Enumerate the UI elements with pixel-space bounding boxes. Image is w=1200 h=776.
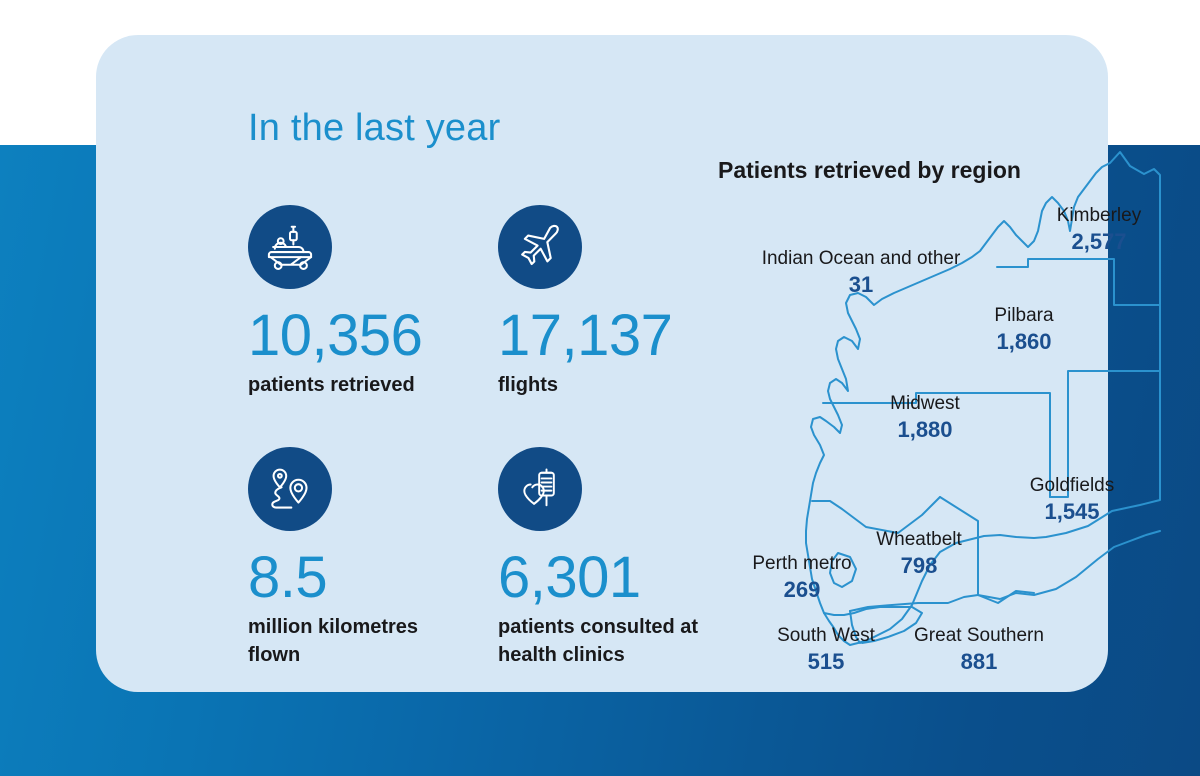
region-value: 269	[738, 576, 866, 604]
region-value: 1,545	[1008, 498, 1136, 526]
stat-value: 6,301	[498, 547, 728, 608]
region-label-great-southern: Great Southern 881	[896, 625, 1062, 675]
region-value: 31	[752, 271, 970, 299]
stat-label: million kilometres flown	[248, 614, 463, 669]
infographic-root: In the last year	[0, 0, 1200, 776]
stat-label: patients retrieved	[248, 372, 463, 400]
region-name: Kimberley	[1034, 205, 1164, 228]
region-name: Pilbara	[966, 305, 1082, 328]
region-label-perth-metro: Perth metro 269	[738, 553, 866, 603]
region-label-midwest: Midwest 1,880	[866, 393, 984, 443]
region-value: 1,860	[966, 328, 1082, 356]
region-value: 2,577	[1034, 228, 1164, 256]
stat-kilometres-flown: 8.5 million kilometres flown	[248, 447, 478, 670]
stat-flights: 17,137 flights	[498, 205, 728, 400]
region-name: Indian Ocean and other	[752, 248, 970, 271]
region-name: South West	[756, 625, 896, 648]
region-name: Wheatbelt	[860, 529, 978, 552]
region-name: Midwest	[866, 393, 984, 416]
region-label-kimberley: Kimberley 2,577	[1034, 205, 1164, 255]
patient-stretcher-icon	[248, 205, 332, 289]
stat-value: 8.5	[248, 547, 478, 608]
region-name: Perth metro	[738, 553, 866, 576]
stat-patients-retrieved: 10,356 patients retrieved	[248, 205, 478, 400]
region-name: Great Southern	[896, 625, 1062, 648]
stat-value: 17,137	[498, 305, 728, 366]
region-value: 798	[860, 552, 978, 580]
airplane-icon	[498, 205, 582, 289]
region-value: 881	[896, 648, 1062, 676]
page-title: In the last year	[248, 107, 500, 150]
route-map-pins-icon	[248, 447, 332, 531]
region-value: 1,880	[866, 416, 984, 444]
region-label-pilbara: Pilbara 1,860	[966, 305, 1082, 355]
region-value: 515	[756, 648, 896, 676]
region-name: Goldfields	[1008, 475, 1136, 498]
stat-label: patients consulted at health clinics	[498, 614, 713, 669]
stat-value: 10,356	[248, 305, 478, 366]
region-label-south-west: South West 515	[756, 625, 896, 675]
boundary-greatsouthern-east	[978, 531, 1160, 599]
region-label-indian-ocean: Indian Ocean and other 31	[752, 248, 970, 298]
stats-card: In the last year	[96, 35, 1108, 692]
stat-patients-consulted: 6,301 patients consulted at health clini…	[498, 447, 728, 670]
stat-label: flights	[498, 372, 713, 400]
region-label-goldfields: Goldfields 1,545	[1008, 475, 1136, 525]
region-label-wheatbelt: Wheatbelt 798	[860, 529, 978, 579]
heart-iv-drip-icon	[498, 447, 582, 531]
map-panel: Patients retrieved by region	[716, 145, 1186, 690]
boundary-kimberley-pilbara	[997, 259, 1160, 305]
boundary-midwest-wheatbelt	[812, 497, 940, 533]
